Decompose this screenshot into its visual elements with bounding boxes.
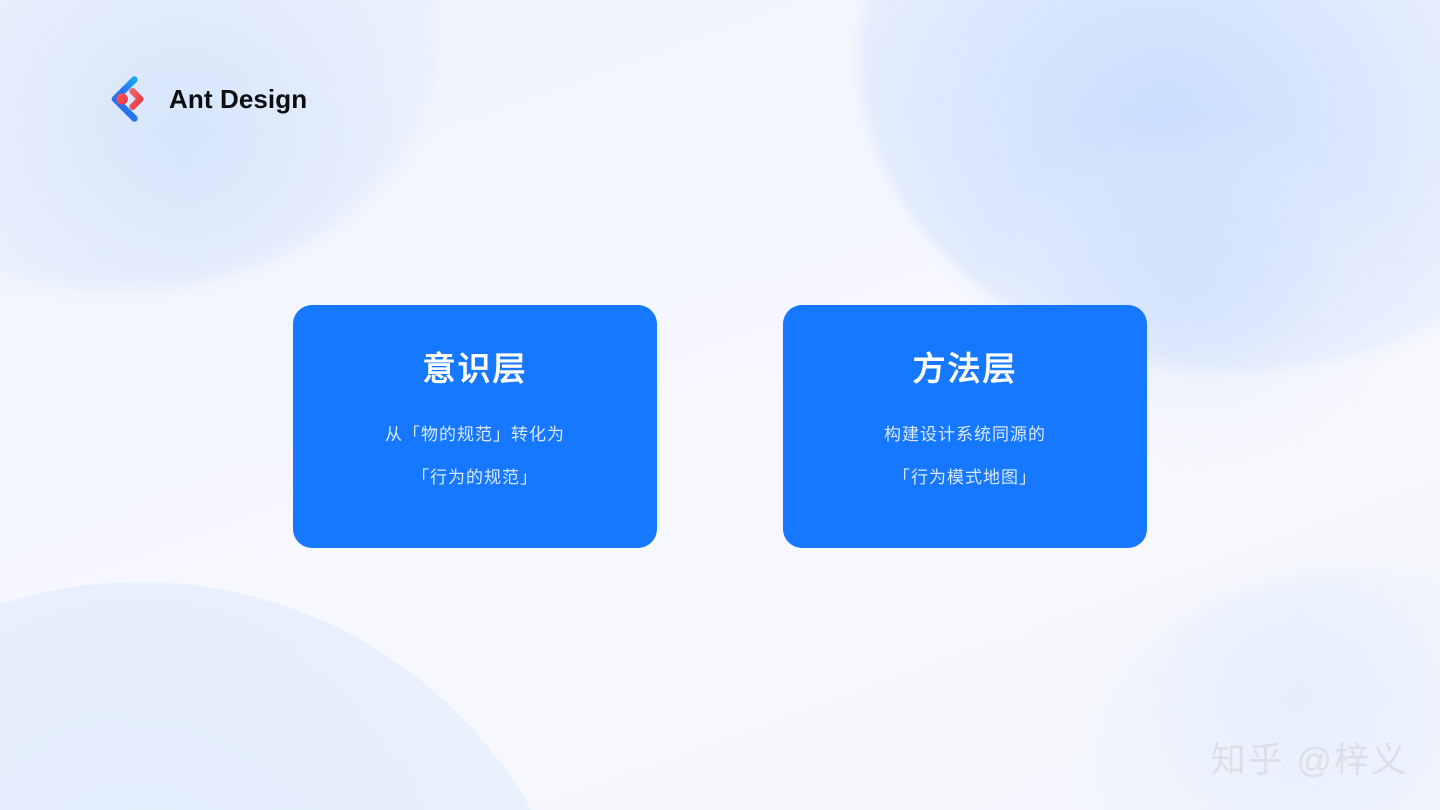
- card-awareness-layer[interactable]: 意识层 从「物的规范」转化为 「行为的规范」: [293, 305, 657, 548]
- decorative-blob-top-left: [0, 0, 440, 290]
- card-description-line: 构建设计系统同源的: [884, 413, 1046, 456]
- brand-lockup: Ant Design: [95, 70, 307, 128]
- ant-design-logo-icon: [95, 70, 153, 128]
- card-description: 从「物的规范」转化为 「行为的规范」: [385, 413, 565, 499]
- watermark: 知乎 @梓义: [1211, 743, 1408, 778]
- card-description-line: 「行为的规范」: [385, 456, 565, 499]
- decorative-blob-bottom-left: [0, 582, 590, 810]
- card-title: 意识层: [423, 352, 528, 385]
- brand-name: Ant Design: [169, 86, 307, 112]
- card-description-line: 「行为模式地图」: [884, 456, 1046, 499]
- card-description-line: 从「物的规范」转化为: [385, 413, 565, 456]
- card-title: 方法层: [913, 352, 1018, 385]
- card-description: 构建设计系统同源的 「行为模式地图」: [884, 413, 1046, 499]
- slide-canvas: Ant Design 意识层 从「物的规范」转化为 「行为的规范」 方法层 构建…: [0, 0, 1440, 810]
- card-method-layer[interactable]: 方法层 构建设计系统同源的 「行为模式地图」: [783, 305, 1147, 548]
- concept-cards: 意识层 从「物的规范」转化为 「行为的规范」 方法层 构建设计系统同源的 「行为…: [293, 305, 1147, 548]
